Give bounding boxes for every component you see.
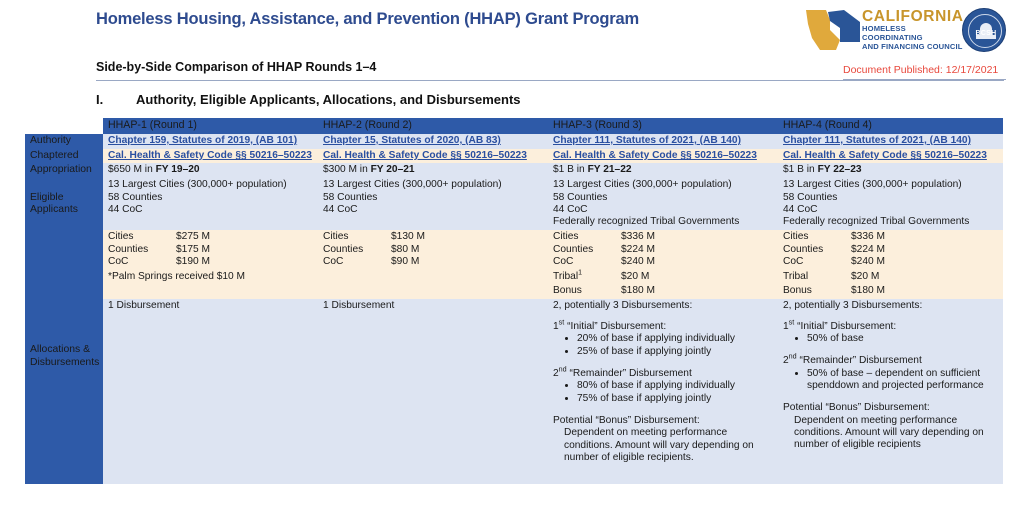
authority-cell-2: Chapter 15, Statutes of 2020, (AB 83) — [318, 134, 548, 149]
column-header-hhap1: HHAP-1 (Round 1) — [103, 118, 318, 134]
eligible-line: 13 Largest Cities (300,000+ population) — [323, 179, 544, 191]
allocation-value: $190 M — [176, 256, 314, 268]
allocation-line: Counties$224 M — [783, 244, 999, 256]
row-label-appropriation: Appropriation — [25, 163, 103, 178]
allocation-line: Cities$336 M — [553, 231, 774, 243]
allocation-value: $20 M — [851, 271, 999, 283]
table-row-disbursements: 1 Disbursement 1 Disbursement 2, potenti… — [25, 299, 1003, 484]
allocation-line-tribal: Tribal1$20 M — [553, 271, 774, 283]
subtitle: Side-by-Side Comparison of HHAP Rounds 1… — [96, 60, 376, 77]
allocation-key: CoC — [553, 256, 621, 268]
eligible-line: 58 Counties — [323, 192, 544, 204]
appropriation-cell-3: $1 B in FY 21–22 — [548, 163, 778, 178]
allocation-key: Counties — [783, 244, 851, 256]
disbursements-cell-3: 2, potentially 3 Disbursements: 1st “Ini… — [548, 299, 778, 484]
eligible-line: 58 Counties — [108, 192, 314, 204]
allocation-line: Cities$130 M — [323, 231, 544, 243]
appropriation-fy-4: FY 22–23 — [818, 164, 862, 175]
row-label-eligible-line1: Eligible — [30, 192, 99, 205]
table-row-allocations-base: Allocations & Disbursements Cities$275 M… — [25, 230, 1003, 269]
logo-subtitle-line1: HOMELESS COORDINATING — [862, 25, 964, 43]
allocation-value: $180 M — [621, 285, 774, 297]
allocation-extra2-blank-1 — [108, 285, 314, 297]
palm-springs-note: *Palm Springs received $10 M — [108, 271, 314, 283]
logo-wordmark: CALIFORNIA HOMELESS COORDINATING AND FIN… — [862, 9, 964, 52]
allocation-line: Cities$336 M — [783, 231, 999, 243]
authority-link-1[interactable]: Chapter 159, Statutes of 2019, (AB 101) — [108, 135, 297, 146]
appropriation-cell-2: $300 M in FY 20–21 — [318, 163, 548, 178]
california-state-outline-icon — [800, 8, 862, 52]
appropriation-cell-4: $1 B in FY 22–23 — [778, 163, 1003, 178]
section-title: Authority, Eligible Applicants, Allocati… — [136, 92, 521, 107]
allocation-line: Counties$224 M — [553, 244, 774, 256]
allocation-extra2-cell-3: Bonus$180 M — [548, 284, 778, 298]
allocation-value: $180 M — [851, 285, 999, 297]
column-header-hhap2: HHAP-2 (Round 2) — [318, 118, 548, 134]
disbursements-cell-4: 2, potentially 3 Disbursements: 1st “Ini… — [778, 299, 1003, 484]
appropriation-cell-1: $650 M in FY 19–20 — [103, 163, 318, 178]
disbursement-ordinal-suffix: nd — [789, 352, 797, 361]
appropriation-amount-1: $650 M in — [108, 164, 156, 175]
disbursement-block-title: 1st “Initial” Disbursement: — [783, 321, 999, 333]
seal-inner-ring: BCSH — [968, 14, 1002, 48]
table-header-row: HHAP-1 (Round 1) HHAP-2 (Round 2) HHAP-3… — [25, 118, 1003, 134]
row-label-allocations-line1: Allocations & — [30, 344, 99, 357]
bcsh-seal-icon: BCSH — [962, 8, 1006, 52]
disbursement-block-title: 2nd “Remainder” Disbursement — [553, 368, 774, 380]
appropriation-fy-2: FY 20–21 — [371, 164, 415, 175]
allocation-value: $275 M — [176, 231, 314, 243]
allocation-line: CoC$90 M — [323, 256, 544, 268]
column-header-hhap4: HHAP-4 (Round 4) — [778, 118, 1003, 134]
disbursement-intro-3: 2, potentially 3 Disbursements: — [553, 300, 774, 312]
eligible-line: Federally recognized Tribal Governments — [783, 216, 999, 228]
allocation-value: $240 M — [851, 256, 999, 268]
allocation-extra2-cell-4: Bonus$180 M — [778, 284, 1003, 298]
eligible-line: 13 Largest Cities (300,000+ population) — [108, 179, 314, 191]
allocation-base-cell-4: Cities$336 M Counties$224 M CoC$240 M — [778, 230, 1003, 269]
disbursement-bullet-list: 50% of base – dependent on sufficient sp… — [783, 368, 999, 394]
eligible-line: 44 CoC — [783, 204, 999, 216]
row-label-allocations-line2: Disbursements — [30, 357, 99, 370]
table-row-chaptered: Chaptered Cal. Health & Safety Code §§ 5… — [25, 149, 1003, 164]
allocation-extra1-cell-2 — [318, 270, 548, 284]
allocation-value: $20 M — [621, 271, 774, 283]
disbursement-ordinal-suffix: nd — [559, 365, 567, 374]
authority-cell-1: Chapter 159, Statutes of 2019, (AB 101) — [103, 134, 318, 149]
allocation-key: Cities — [108, 231, 176, 243]
disbursement-bullet: 50% of base – dependent on sufficient sp… — [807, 368, 999, 394]
authority-link-2[interactable]: Chapter 15, Statutes of 2020, (AB 83) — [323, 135, 501, 146]
tribal-footnote-marker: 1 — [578, 269, 582, 276]
chaptered-cell-4: Cal. Health & Safety Code §§ 50216–50223 — [778, 149, 1003, 164]
eligible-cell-2: 13 Largest Cities (300,000+ population) … — [318, 178, 548, 230]
allocation-key: CoC — [323, 256, 391, 268]
allocation-line: Cities$275 M — [108, 231, 314, 243]
allocation-extra1-cell-4: Tribal$20 M — [778, 270, 1003, 284]
page-title: Homeless Housing, Assistance, and Preven… — [96, 10, 639, 29]
eligible-cell-1: 13 Largest Cities (300,000+ population) … — [103, 178, 318, 230]
comparison-table: HHAP-1 (Round 1) HHAP-2 (Round 2) HHAP-3… — [25, 118, 1003, 484]
eligible-line: 44 CoC — [553, 204, 774, 216]
allocation-value: $336 M — [621, 231, 774, 243]
column-header-hhap3: HHAP-3 (Round 3) — [548, 118, 778, 134]
disbursement-block-title: Potential “Bonus” Disbursement: — [783, 402, 999, 414]
authority-cell-3: Chapter 111, Statutes of 2021, (AB 140) — [548, 134, 778, 149]
allocation-value: $80 M — [391, 244, 544, 256]
table-row-eligible-applicants: Eligible Applicants 13 Largest Cities (3… — [25, 178, 1003, 230]
allocation-key: Cities — [323, 231, 391, 243]
allocation-key: CoC — [108, 256, 176, 268]
eligible-line: Federally recognized Tribal Governments — [553, 216, 774, 228]
row-label-authority: Authority — [25, 134, 103, 149]
allocation-line: CoC$240 M — [553, 256, 774, 268]
authority-link-3[interactable]: Chapter 111, Statutes of 2021, (AB 140) — [553, 135, 741, 146]
chaptered-cell-2: Cal. Health & Safety Code §§ 50216–50223 — [318, 149, 548, 164]
eligible-line: 58 Counties — [783, 192, 999, 204]
allocation-extra2-cell-2 — [318, 284, 548, 298]
allocation-extra2-blank-2 — [323, 285, 544, 297]
table-row-appropriation: Appropriation $650 M in FY 19–20 $300 M … — [25, 163, 1003, 178]
allocation-key: Counties — [108, 244, 176, 256]
disbursement-bullet: 25% of base if applying jointly — [577, 346, 774, 359]
eligible-cell-3: 13 Largest Cities (300,000+ population) … — [548, 178, 778, 230]
allocation-base-cell-2: Cities$130 M Counties$80 M CoC$90 M — [318, 230, 548, 269]
disbursements-cell-1: 1 Disbursement — [103, 299, 318, 484]
allocation-line: Counties$80 M — [323, 244, 544, 256]
allocation-extra2-cell-1 — [103, 284, 318, 298]
allocation-line-tribal: Tribal$20 M — [783, 271, 999, 283]
logo-california-text: CALIFORNIA — [862, 9, 964, 25]
disbursement-bullet: 50% of base — [807, 333, 999, 346]
eligible-line: 44 CoC — [108, 204, 314, 216]
disbursement-intro-2: 1 Disbursement — [323, 300, 544, 312]
eligible-line: 13 Largest Cities (300,000+ population) — [553, 179, 774, 191]
disbursement-intro-1: 1 Disbursement — [108, 300, 314, 312]
appropriation-amount-4: $1 B in — [783, 164, 818, 175]
eligible-cell-4: 13 Largest Cities (300,000+ population) … — [778, 178, 1003, 230]
disbursement-bullet-list: 50% of base — [783, 333, 999, 346]
disbursement-bullet: 75% of base if applying jointly — [577, 393, 774, 406]
disbursement-block-title: Potential “Bonus” Disbursement: — [553, 415, 774, 427]
chaptered-link-2[interactable]: Cal. Health & Safety Code §§ 50216–50223 — [323, 150, 527, 161]
allocation-value: $240 M — [621, 256, 774, 268]
allocation-extra1-cell-3: Tribal1$20 M — [548, 270, 778, 284]
disbursement-bullet: 80% of base if applying individually — [577, 380, 774, 393]
allocation-line-bonus: Bonus$180 M — [783, 285, 999, 297]
disbursement-title: “Remainder” Disbursement — [797, 355, 922, 366]
allocation-key: Counties — [323, 244, 391, 256]
appropriation-amount-3: $1 B in — [553, 164, 588, 175]
allocation-value: $90 M — [391, 256, 544, 268]
eligible-line: 58 Counties — [553, 192, 774, 204]
disbursement-bullet: 20% of base if applying individually — [577, 333, 774, 346]
section-number: I. — [96, 92, 103, 107]
chaptered-cell-3: Cal. Health & Safety Code §§ 50216–50223 — [548, 149, 778, 164]
row-label-allocations-disbursements: Allocations & Disbursements — [25, 230, 103, 483]
allocation-line: Counties$175 M — [108, 244, 314, 256]
allocation-value: $224 M — [621, 244, 774, 256]
chaptered-cell-1: Cal. Health & Safety Code §§ 50216–50223 — [103, 149, 318, 164]
table-row-allocations-extra2: Bonus$180 M Bonus$180 M — [25, 284, 1003, 298]
authority-cell-4: Chapter 111, Statutes of 2021, (AB 140) — [778, 134, 1003, 149]
disbursement-bullet-list: 20% of base if applying individually 25%… — [553, 333, 774, 359]
allocation-base-cell-1: Cities$275 M Counties$175 M CoC$190 M — [103, 230, 318, 269]
chaptered-link-1[interactable]: Cal. Health & Safety Code §§ 50216–50223 — [108, 150, 312, 161]
allocation-value: $336 M — [851, 231, 999, 243]
seal-label: BCSH — [969, 30, 1003, 37]
disbursement-title: “Remainder” Disbursement — [567, 368, 692, 379]
chcfc-logo: CALIFORNIA HOMELESS COORDINATING AND FIN… — [800, 6, 948, 54]
allocation-key: Tribal — [783, 271, 851, 283]
allocation-base-cell-3: Cities$336 M Counties$224 M CoC$240 M — [548, 230, 778, 269]
subtitle-rule — [96, 80, 1004, 81]
table-row-authority: Authority Chapter 159, Statutes of 2019,… — [25, 134, 1003, 149]
allocation-key: Cities — [553, 231, 621, 243]
disbursement-bullet-list: 80% of base if applying individually 75%… — [553, 380, 774, 406]
allocation-key: CoC — [783, 256, 851, 268]
allocation-value: $130 M — [391, 231, 544, 243]
eligible-line: 44 CoC — [323, 204, 544, 216]
row-label-chaptered: Chaptered — [25, 149, 103, 164]
disbursement-block-title: 2nd “Remainder” Disbursement — [783, 355, 999, 367]
allocation-value: $175 M — [176, 244, 314, 256]
chaptered-link-3[interactable]: Cal. Health & Safety Code §§ 50216–50223 — [553, 150, 757, 161]
appropriation-amount-2: $300 M in — [323, 164, 371, 175]
table-row-allocations-extra1: *Palm Springs received $10 M Tribal1$20 … — [25, 270, 1003, 284]
eligible-line: 13 Largest Cities (300,000+ population) — [783, 179, 999, 191]
allocation-line: CoC$190 M — [108, 256, 314, 268]
allocation-line: CoC$240 M — [783, 256, 999, 268]
chaptered-link-4[interactable]: Cal. Health & Safety Code §§ 50216–50223 — [783, 150, 987, 161]
table-corner-cell — [25, 118, 103, 134]
allocation-extra1-cell-1: *Palm Springs received $10 M — [103, 270, 318, 284]
allocation-key: Cities — [783, 231, 851, 243]
row-label-eligible-line2: Applicants — [30, 204, 99, 217]
disbursement-title: “Initial” Disbursement: — [564, 321, 666, 332]
disbursement-intro-4: 2, potentially 3 Disbursements: — [783, 300, 999, 312]
disbursement-paragraph: Dependent on meeting performance conditi… — [553, 427, 774, 464]
disbursement-block-title: 1st “Initial” Disbursement: — [553, 321, 774, 333]
document-page: Homeless Housing, Assistance, and Preven… — [0, 0, 1024, 522]
row-label-eligible-applicants: Eligible Applicants — [25, 178, 103, 230]
authority-link-4[interactable]: Chapter 111, Statutes of 2021, (AB 140) — [783, 135, 971, 146]
allocation-line-bonus: Bonus$180 M — [553, 285, 774, 297]
tribal-label: Tribal — [553, 271, 578, 282]
appropriation-fy-3: FY 21–22 — [588, 164, 632, 175]
disbursement-title: “Initial” Disbursement: — [794, 321, 896, 332]
subtitle-wrap: Side-by-Side Comparison of HHAP Rounds 1… — [96, 58, 976, 77]
disbursement-paragraph: Dependent on meeting performance conditi… — [783, 415, 999, 452]
disbursements-cell-2: 1 Disbursement — [318, 299, 548, 484]
logo-subtitle-line2: AND FINANCING COUNCIL — [862, 43, 964, 52]
allocation-key: Tribal1 — [553, 271, 621, 283]
allocation-value: $224 M — [851, 244, 999, 256]
allocation-key: Bonus — [553, 285, 621, 297]
appropriation-fy-1: FY 19–20 — [156, 164, 200, 175]
allocation-key: Bonus — [783, 285, 851, 297]
allocation-key: Counties — [553, 244, 621, 256]
